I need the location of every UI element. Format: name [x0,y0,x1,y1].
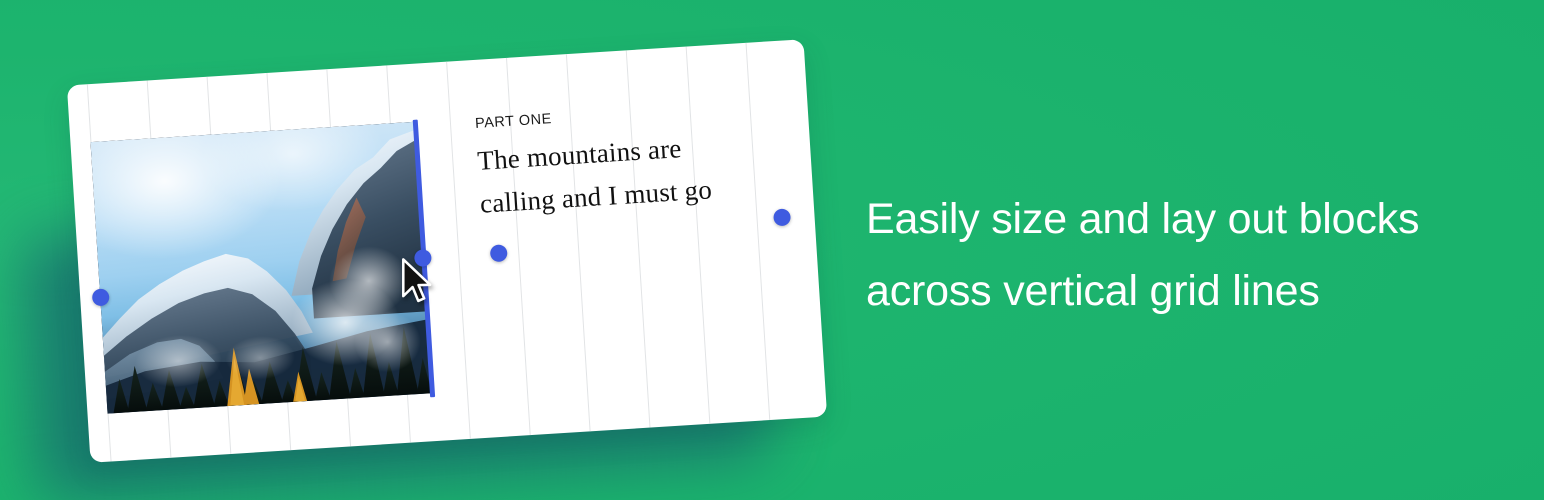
grid-line [446,62,471,439]
document-canvas[interactable]: PART ONE The mountains are calling and I… [67,39,827,463]
screenshot-root: PART ONE The mountains are calling and I… [0,0,1544,500]
grid-line [566,54,591,431]
promo-copy: Easily size and lay out blocks across ve… [866,183,1506,327]
promo-line: across vertical grid lines [866,255,1506,327]
arrow-pointer-icon [399,258,433,306]
grid-line [686,47,711,424]
photo-mountains [90,122,431,414]
grid-line [626,50,651,427]
grid-handle-middle[interactable] [490,244,508,262]
canvas-headline[interactable]: The mountains are calling and I must go [476,123,749,225]
canvas-surface[interactable]: PART ONE The mountains are calling and I… [67,39,827,463]
grid-handle-right[interactable] [773,208,791,226]
eyebrow-label[interactable]: PART ONE [475,111,553,132]
image-block[interactable] [90,122,431,414]
grid-line [746,43,771,420]
promo-line: Easily size and lay out blocks [866,183,1506,255]
